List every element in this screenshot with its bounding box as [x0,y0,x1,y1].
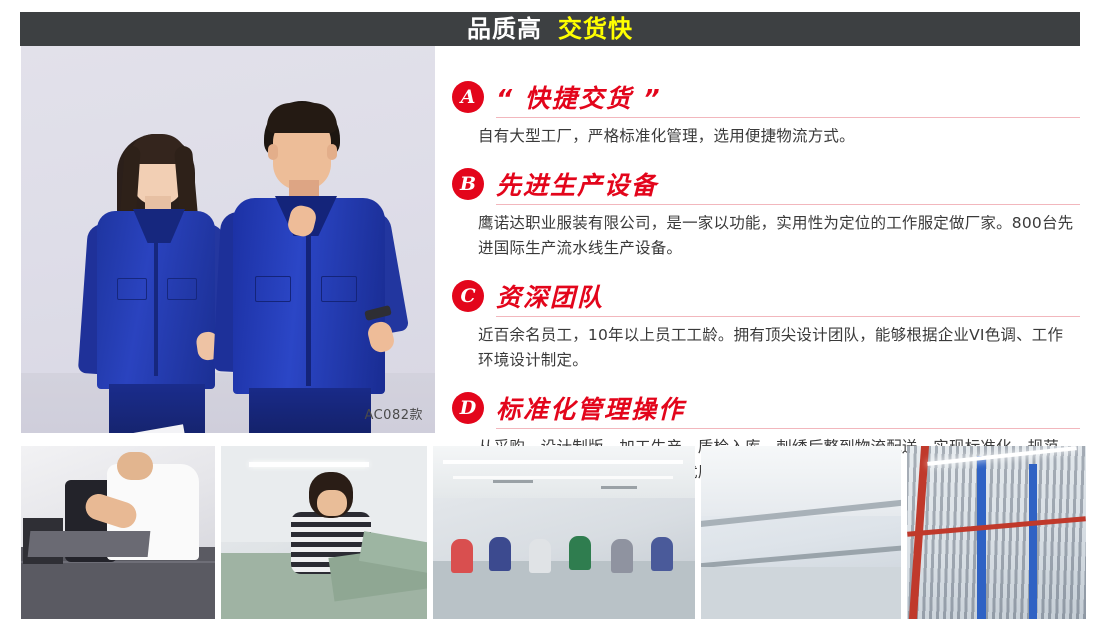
workshop-fan-1 [493,480,533,483]
conveyor-rail-lower [701,544,901,568]
feature-c-heading: 资深团队 [496,278,604,314]
workshop-worker [569,536,591,570]
feature-section-b: B 先进生产设备 鹰诺达职业服装有限公司，是一家以功能，实用性为定位的工作服定做… [452,165,1080,261]
sewing-light [249,462,369,467]
page-root: 品质高 交货快 A [0,0,1100,619]
feature-c-badge: C [452,280,484,312]
factory-photo-sewing [221,446,427,619]
workshop-light-1 [443,460,683,464]
feature-a-body: 自有大型工厂，严格标准化管理，选用便捷物流方式。 [478,124,1074,149]
feature-section-c: C 资深团队 近百余名员工，10年以上员工工龄。拥有顶尖设计团队，能够根据企业V… [452,277,1080,373]
feature-c-divider [496,316,1080,317]
female-model-placket [154,226,158,376]
male-model-pocket-right [321,276,357,302]
factory-photo-strip [21,446,1080,619]
sewing-operator-face [317,490,347,516]
warehouse-rack-blue-1 [977,456,986,619]
banner-title-primary: 品质高 [467,17,542,41]
female-model-pocket-right [167,278,197,300]
male-model-trousers [249,388,371,433]
male-model-pocket-left [255,276,291,302]
feature-d-badge: D [452,392,484,424]
workshop-worker [451,539,473,573]
feature-a-divider [496,117,1080,118]
feature-d-header: D 标准化管理操作 [452,389,1080,427]
feature-c-body: 近百余名员工，10年以上员工工龄。拥有顶尖设计团队，能够根据企业VI色调、工作环… [478,323,1074,373]
feature-c-header: C 资深团队 [452,277,1080,315]
product-model-label: AC082款 [364,404,423,423]
features-list: A “ 快捷交货 ” 自有大型工厂，严格标准化管理，选用便捷物流方式。 B 先进… [452,78,1080,501]
male-model-hair-front [267,103,337,133]
feature-a-badge: A [452,81,484,113]
workshop-worker-row [433,529,695,573]
workshop-worker [611,539,633,573]
male-model-ear-left [268,144,278,160]
female-model-pocket-left [117,278,147,300]
male-model-ear-right [327,144,337,160]
workshop-worker [529,539,551,573]
workshop-worker [651,537,673,571]
workshop-fan-2 [601,486,637,489]
factory-photo-cutting [21,446,215,619]
workshop-light-2 [453,476,673,479]
male-model-placket [306,218,311,386]
feature-a-header: A “ 快捷交货 ” [452,78,1080,116]
warehouse-rack-blue-2 [1029,464,1037,619]
feature-b-divider [496,204,1080,205]
conveyor-floor [701,567,901,619]
feature-section-a: A “ 快捷交货 ” 自有大型工厂，严格标准化管理，选用便捷物流方式。 [452,78,1080,149]
cutting-worker-head [117,452,153,480]
workshop-worker [489,537,511,571]
feature-b-header: B 先进生产设备 [452,165,1080,203]
female-model-trousers [109,384,205,433]
feature-b-heading: 先进生产设备 [496,166,658,202]
banner-title-accent: 交货快 [558,17,633,41]
cutting-fabric [28,531,151,557]
factory-photo-production-line [433,446,695,619]
factory-photo-conveyor [701,446,901,619]
hero-product-image: AC082款 [21,46,435,433]
factory-photo-warehouse [907,446,1086,619]
header-banner: 品质高 交货快 [20,12,1080,46]
feature-a-heading: “ 快捷交货 ” [496,79,662,115]
feature-d-heading: 标准化管理操作 [496,390,685,426]
feature-b-badge: B [452,168,484,200]
workshop-ceiling [433,446,695,498]
feature-b-body: 鹰诺达职业服装有限公司，是一家以功能，实用性为定位的工作服定做厂家。800台先进… [478,211,1074,261]
feature-d-divider [496,428,1080,429]
